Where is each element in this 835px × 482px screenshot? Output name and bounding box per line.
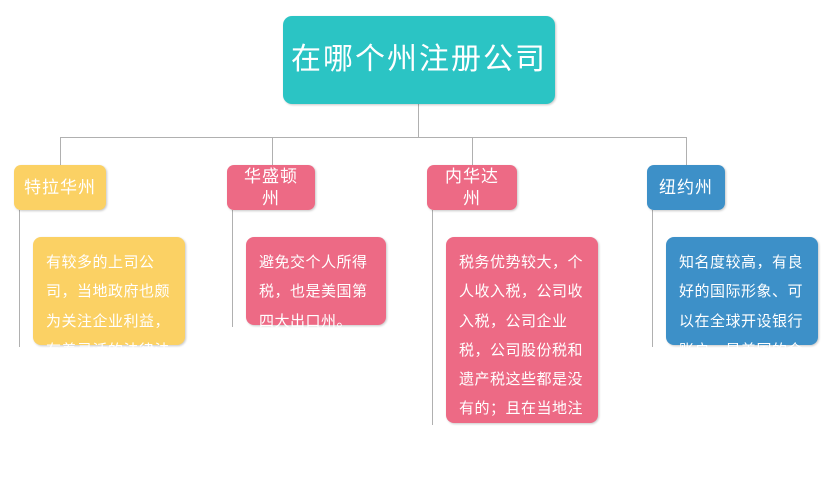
connector-drop-branch-2 (272, 137, 273, 165)
connector-drop-branch-3 (472, 137, 473, 165)
connector-drop-branch-4 (686, 137, 687, 165)
connector-root-stem (418, 104, 419, 138)
branch-node-2[interactable]: 华盛顿州 (227, 165, 315, 210)
connector-branch-3-to-description (432, 210, 433, 425)
branch-description-2: 避免交个人所得税，也是美国第四大出口州。 (246, 237, 386, 325)
branch-description-3: 税务优势较大，个人收入税，公司收入税，公司企业税，公司股份税和遗产税这些都是没有… (446, 237, 598, 423)
root-node[interactable]: 在哪个州注册公司 (283, 16, 555, 104)
branch-node-3[interactable]: 内华达州 (427, 165, 517, 210)
branch-description-4: 知名度较高，有良好的国际形象、可以在全球开设银行账户，是美国的金融中心。 (666, 237, 818, 345)
connector-branch-2-to-description (232, 210, 233, 327)
connector-drop-branch-1 (60, 137, 61, 165)
connector-horizontal-bus (60, 137, 686, 138)
branch-node-1[interactable]: 特拉华州 (14, 165, 106, 210)
mindmap-canvas: 在哪个州注册公司 特拉华州 有较多的上司公司，当地政府也颇为关注企业利益，有着灵… (0, 0, 835, 444)
connector-branch-4-to-description (652, 210, 653, 347)
branch-description-1: 有较多的上司公司，当地政府也颇为关注企业利益，有着灵活的法律法规。 (33, 237, 185, 345)
branch-node-4[interactable]: 纽约州 (647, 165, 725, 210)
connector-branch-1-to-description (19, 210, 20, 347)
